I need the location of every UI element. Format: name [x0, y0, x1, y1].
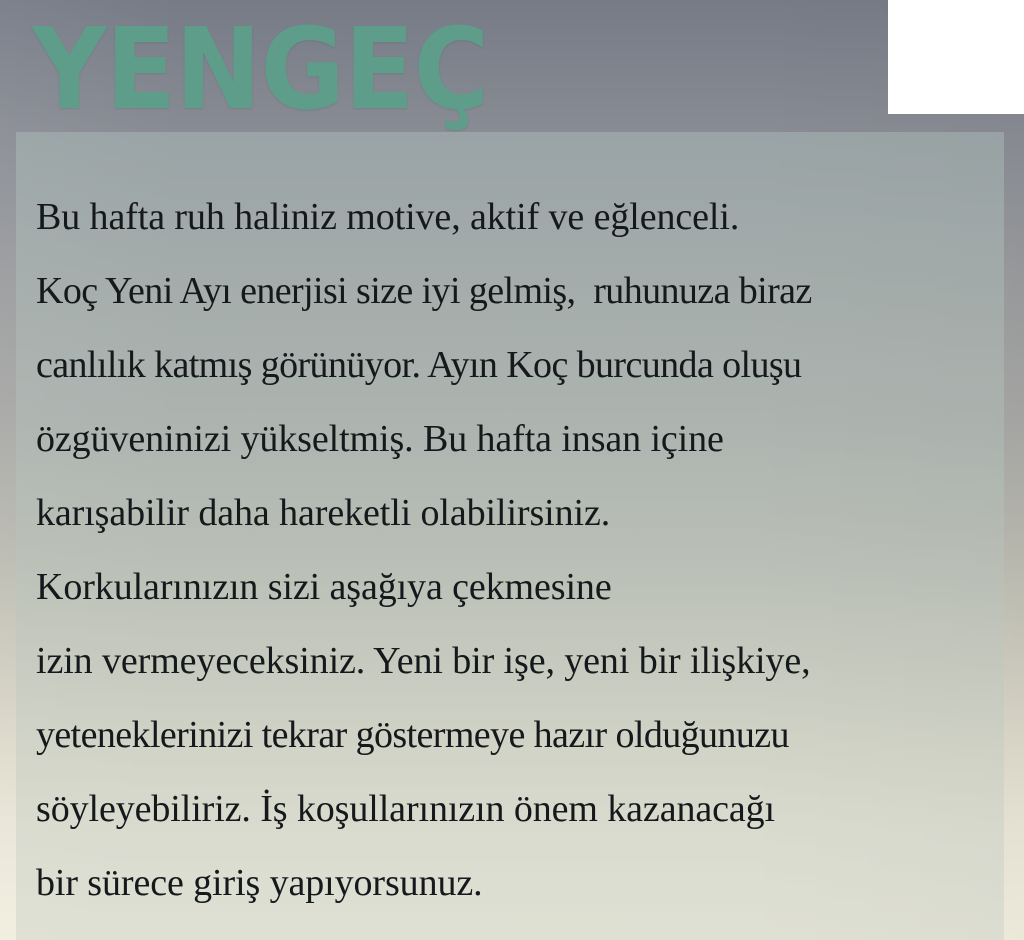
horoscope-poster: YENGEÇ Bu hafta ruh haliniz motive, akti…: [0, 0, 1024, 940]
body-line: canlılık katmış görünüyor. Ayın Koç burc…: [36, 328, 978, 402]
body-line: söyleyebiliriz. İş koşullarınızın önem k…: [36, 772, 978, 846]
body-line: Koç Yeni Ayı enerjisi size iyi gelmiş, r…: [36, 254, 978, 328]
top-right-white-block: [888, 0, 1024, 114]
body-line: özgüveninizi yükseltmiş. Bu hafta insan …: [36, 402, 978, 476]
page-title: YENGEÇ: [32, 14, 488, 126]
body-line: Korkularınızın sizi aşağıya çekmesine: [36, 550, 978, 624]
horoscope-text-panel: Bu hafta ruh haliniz motive, aktif ve eğ…: [16, 132, 1004, 940]
body-line: izin vermeyeceksiniz. Yeni bir işe, yeni…: [36, 624, 978, 698]
body-line: bir sürece giriş yapıyorsunuz.: [36, 846, 978, 920]
body-line: karışabilir daha hareketli olabilirsiniz…: [36, 476, 978, 550]
body-line: yeteneklerinizi tekrar göstermeye hazır …: [36, 698, 978, 772]
body-line: Bu hafta ruh haliniz motive, aktif ve eğ…: [36, 180, 978, 254]
